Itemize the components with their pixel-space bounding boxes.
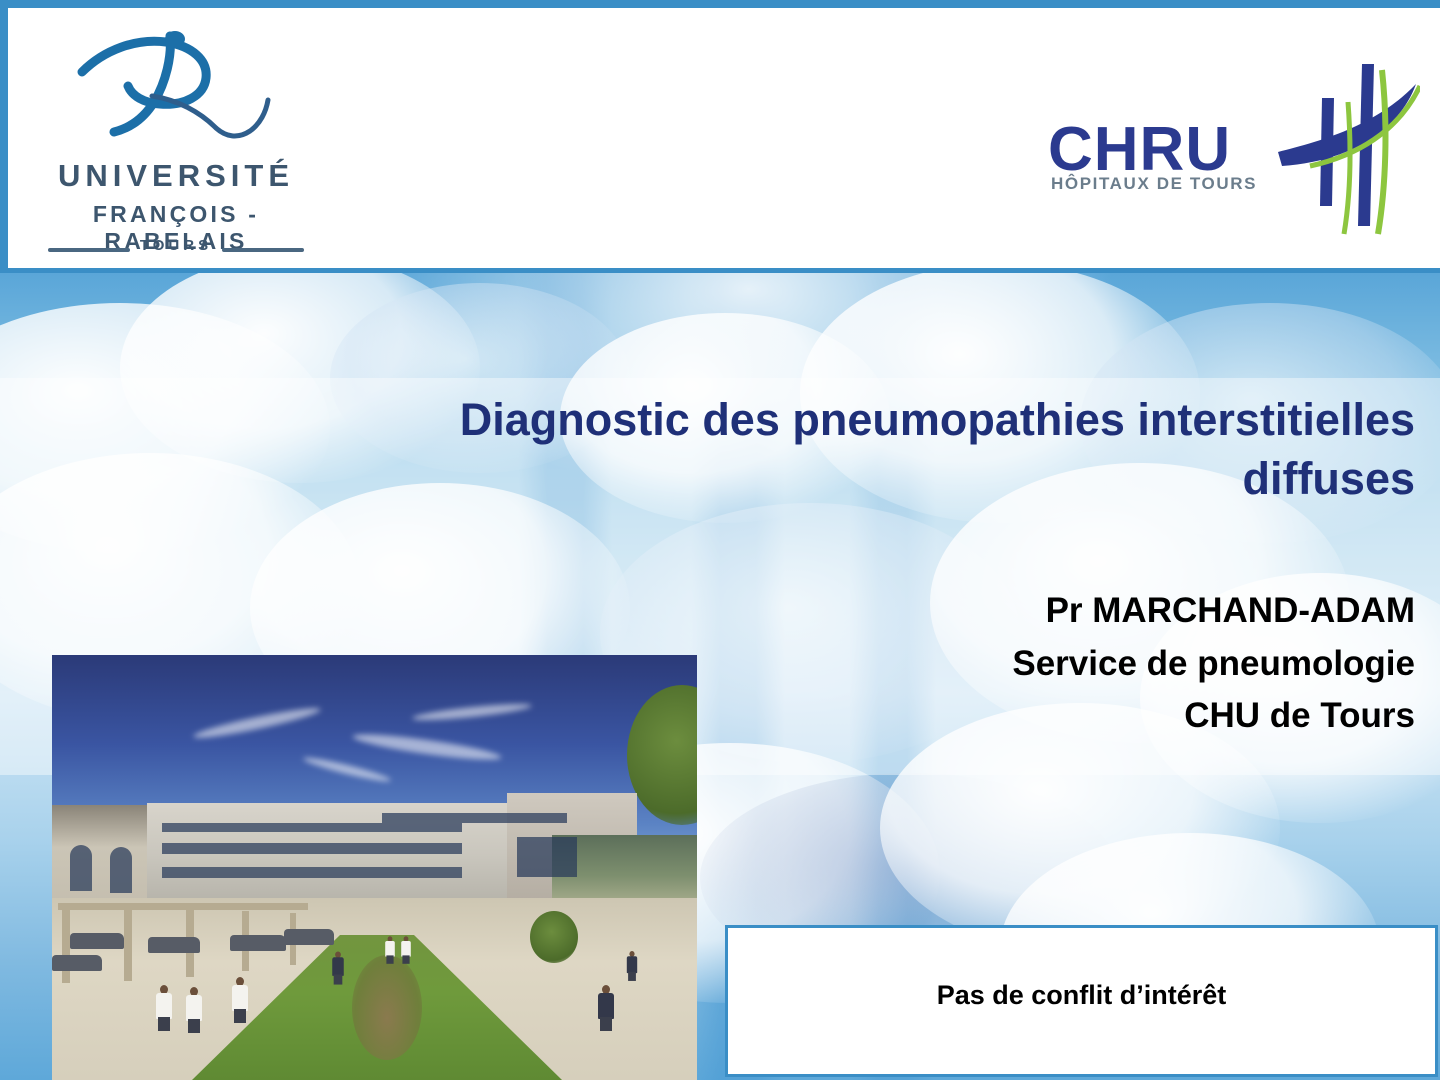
hospital-logo: CHRU HÔPITAUX DE TOURS <box>1048 56 1418 241</box>
author-block: Pr MARCHAND-ADAM Service de pneumologie … <box>700 585 1415 743</box>
photo-person <box>156 985 172 1031</box>
author-institution: CHU de Tours <box>700 690 1415 743</box>
title-line-1: Diagnostic des pneumopathies interstitie… <box>460 394 1415 445</box>
slide-header: UNIVERSITÉ FRANÇOIS - RABELAIS TOURS CHR… <box>0 0 1440 273</box>
hospital-subtitle: HÔPITAUX DE TOURS <box>1051 174 1257 194</box>
photo-person <box>332 951 344 984</box>
university-logo: UNIVERSITÉ FRANÇOIS - RABELAIS TOURS <box>26 30 326 255</box>
disclosure-box: Pas de conflit d’intérêt <box>725 925 1438 1077</box>
photo-flower-bed <box>352 955 422 1060</box>
university-r-monogram-icon <box>74 30 284 140</box>
photo-shrub <box>530 911 578 963</box>
photo-person <box>385 936 395 964</box>
photo-person <box>598 985 614 1031</box>
photo-person <box>232 977 248 1023</box>
photo-person <box>627 951 637 981</box>
university-rule-left <box>48 248 130 252</box>
author-name: Pr MARCHAND-ADAM <box>700 585 1415 638</box>
photo-person <box>186 987 202 1033</box>
disclosure-text: Pas de conflit d’intérêt <box>728 980 1435 1011</box>
university-rule-right <box>222 248 304 252</box>
title-line-2: diffuses <box>1242 453 1415 504</box>
author-department: Service de pneumologie <box>700 638 1415 691</box>
university-name-line1: UNIVERSITÉ <box>26 158 326 194</box>
photo-person <box>401 936 411 964</box>
slide-title: Diagnostic des pneumopathies interstitie… <box>280 390 1415 509</box>
presentation-slide: UNIVERSITÉ FRANÇOIS - RABELAIS TOURS CHR… <box>0 0 1440 1080</box>
hospital-cross-h-icon <box>1270 56 1420 236</box>
campus-photo <box>52 655 697 1080</box>
